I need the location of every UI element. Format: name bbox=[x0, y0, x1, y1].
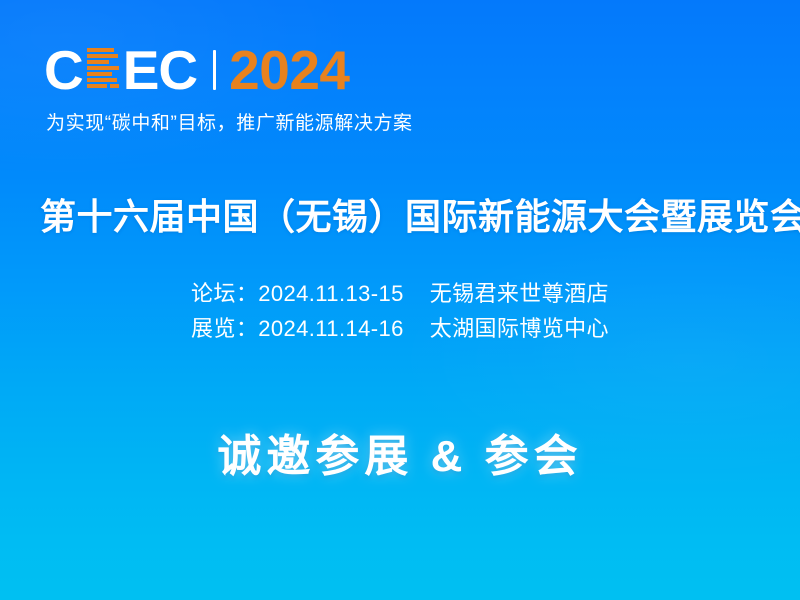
logo-year: 2024 bbox=[229, 44, 349, 96]
logo-r-stripe bbox=[87, 84, 107, 88]
tagline: 为实现“碳中和”目标，推广新能源解决方案 bbox=[46, 108, 413, 135]
logo-r-stripe bbox=[87, 72, 112, 76]
page-title: 第十六届中国（无锡）国际新能源大会暨展览会 bbox=[40, 188, 800, 240]
schedule-label-exhibition: 展览： bbox=[191, 316, 258, 341]
schedule-row-forum: 论坛：2024.11.13-15无锡君来世尊酒店 bbox=[0, 276, 800, 311]
logo-r-stripe bbox=[87, 54, 118, 58]
logo-r-stripe bbox=[87, 66, 119, 70]
logo-r-stripe bbox=[87, 48, 114, 52]
logo-r-leg bbox=[110, 84, 119, 88]
event-poster: C EC 2024 为实现“碳中和”目标，推广新能源解决方案 第十六届中国（无锡… bbox=[0, 0, 800, 600]
logo-letters-ec: EC bbox=[123, 44, 197, 96]
logo-letter-r-striped-icon bbox=[86, 48, 120, 92]
schedule-row-exhibition: 展览：2024.11.14-16太湖国际博览中心 bbox=[0, 311, 800, 346]
schedule-venue-exhibition: 太湖国际博览中心 bbox=[430, 316, 609, 341]
schedule-date-exhibition: 2024.11.14-16 bbox=[258, 316, 403, 341]
logo-r-stripe bbox=[87, 60, 109, 64]
call-to-action-text: 诚邀参展 & 参会 bbox=[0, 420, 800, 484]
logo-divider bbox=[213, 50, 216, 90]
brand-logo: C EC 2024 bbox=[44, 44, 350, 96]
schedule-block: 论坛：2024.11.13-15无锡君来世尊酒店 展览：2024.11.14-1… bbox=[0, 276, 800, 346]
schedule-label-forum: 论坛： bbox=[191, 281, 258, 306]
schedule-date-forum: 2024.11.13-15 bbox=[258, 281, 403, 306]
logo-r-stripe bbox=[87, 78, 117, 82]
schedule-venue-forum: 无锡君来世尊酒店 bbox=[430, 281, 609, 306]
logo-letter-c: C bbox=[44, 44, 83, 96]
